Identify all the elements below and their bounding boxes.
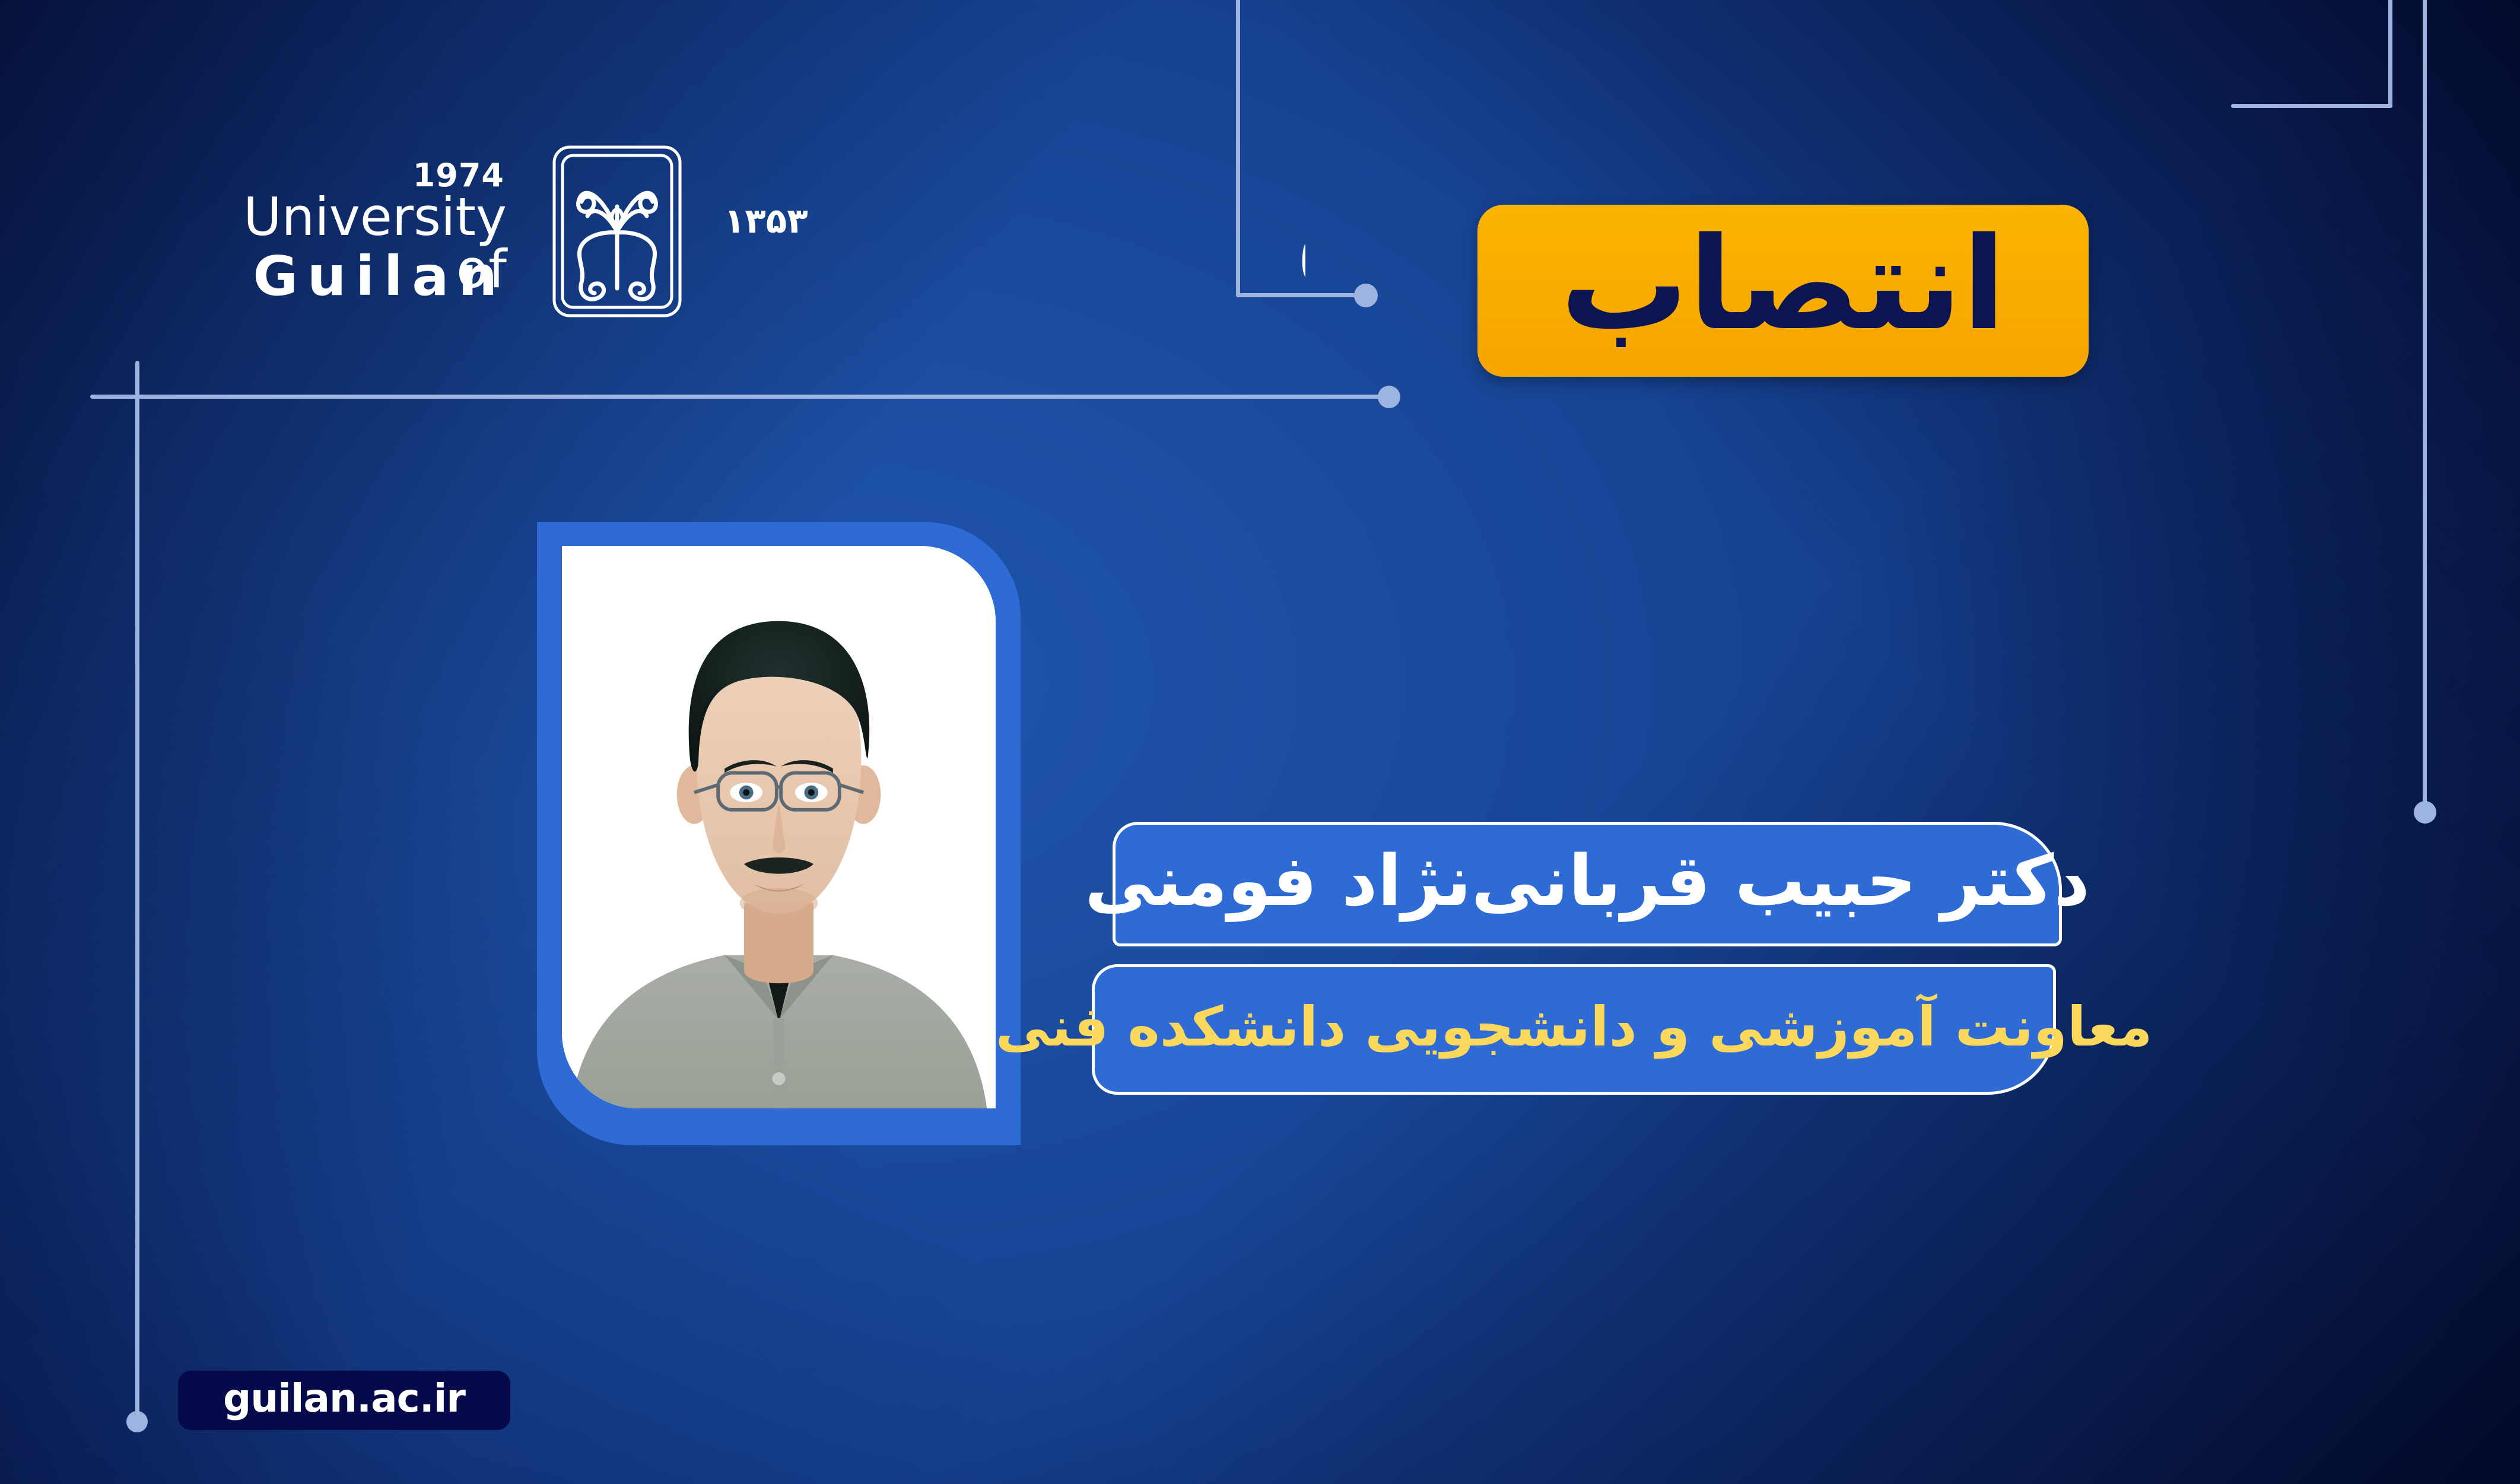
person-name-plate: دکتر حبیب قربانی‌نژاد فومنی [1116, 825, 2059, 943]
website-badge[interactable]: guilan.ac.ir [178, 1371, 510, 1430]
decor-line-right-horizontal [2231, 104, 2392, 108]
logo-established-year-fa: ۱۳۵۳ [724, 201, 808, 241]
decor-line-left-vertical [135, 361, 139, 1423]
decor-dot-right-bottom [2414, 801, 2436, 824]
person-name: دکتر حبیب قربانی‌نژاد فومنی [1085, 846, 2090, 916]
announcement-badge-label: انتصاب [1561, 220, 2006, 348]
person-position: معاونت آموزشی و دانشجویی دانشکده فنی [996, 1000, 2153, 1054]
decor-dot-top-horizontal-end [1378, 386, 1400, 408]
decor-line-top-horizontal [90, 395, 1387, 399]
logo-english-wordmark: 1974 University of Guilan [178, 148, 510, 320]
portrait-photo [562, 546, 996, 1108]
guilan-butterfly-emblem-icon [528, 142, 706, 320]
poster-canvas: 1974 University of Guilan [0, 0, 2520, 1484]
decor-dot-left-bottom [126, 1411, 148, 1432]
decor-dot-upper-corner [1354, 284, 1378, 307]
svg-text:دانشگاه گیلان: دانشگاه گیلان [1294, 161, 1305, 302]
announcement-badge: انتصاب [1477, 205, 2089, 377]
person-position-plate: معاونت آموزشی و دانشجویی دانشکده فنی [1095, 967, 2053, 1092]
website-url: guilan.ac.ir [223, 1379, 465, 1418]
decor-line-right-vertical-long [2423, 0, 2427, 807]
decor-line-right-vertical-short [2388, 0, 2392, 108]
university-logo: 1974 University of Guilan [178, 148, 1305, 320]
portrait-frame [537, 522, 1021, 1145]
logo-name-line2-en: Guilan [253, 249, 507, 304]
logo-persian-wordmark: دانشگاه گیلان ۱۳۵۳ [700, 136, 1305, 326]
